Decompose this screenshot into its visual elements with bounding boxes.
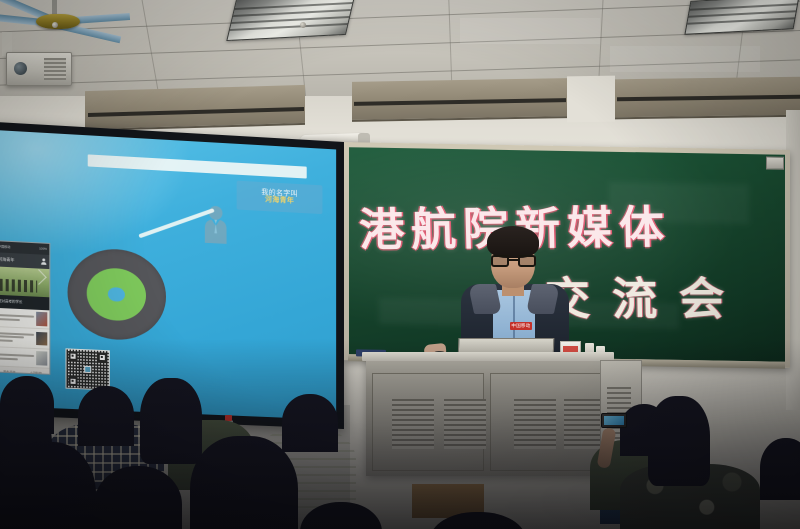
presenter-hair <box>487 226 539 258</box>
phone-hero-image <box>0 266 49 297</box>
smartphone-camera[interactable] <box>601 413 627 428</box>
desk-door-knob[interactable] <box>300 22 306 28</box>
audience-head <box>760 438 800 500</box>
phone-carrier-label: 中国移动 <box>0 245 10 250</box>
fluorescent-light-fixture <box>684 0 799 35</box>
eyeglasses-icon <box>491 255 536 267</box>
presenter-badge-text: 中国移动 <box>510 322 532 330</box>
projector-vent <box>44 58 66 80</box>
presenter-chest-badge: 中国移动 <box>510 322 532 330</box>
phone-article-title <box>0 313 34 323</box>
blackboard-clip <box>766 156 784 169</box>
hero-silhouettes <box>0 279 37 292</box>
donut-chart-hole <box>108 287 125 302</box>
audience-head-long-hair <box>0 442 96 529</box>
classroom-photo-scene: 我的名字叫 河海青年 <box>0 0 800 529</box>
audience-head <box>78 386 134 446</box>
audience-head <box>282 394 338 452</box>
audience-head-long-hair <box>648 396 710 486</box>
contact-icon <box>40 258 47 265</box>
phone-article-row <box>0 308 49 330</box>
desk-door-knob[interactable] <box>52 22 58 28</box>
beam-gap <box>567 76 615 123</box>
audience-head-long-hair <box>190 436 298 529</box>
slide-callout-box: 我的名字叫 河海青年 <box>236 180 323 213</box>
donut-chart-inner-ring <box>87 267 146 322</box>
audience-head-long-hair <box>140 378 202 464</box>
projector-lens-icon <box>14 62 27 75</box>
phone-article-thumbnail <box>36 312 47 326</box>
ceiling-mounted-projector <box>6 52 72 86</box>
fluorescent-light-fixture <box>226 0 355 41</box>
callout-line-2: 河海青年 <box>265 196 294 205</box>
smartphone-screen <box>604 416 624 425</box>
phone-battery-label: 100% <box>39 247 47 251</box>
audience <box>0 330 800 529</box>
hero-caption-text: 您对高考的学长 <box>0 300 22 305</box>
phone-account-title: 河海青年 <box>0 256 14 263</box>
